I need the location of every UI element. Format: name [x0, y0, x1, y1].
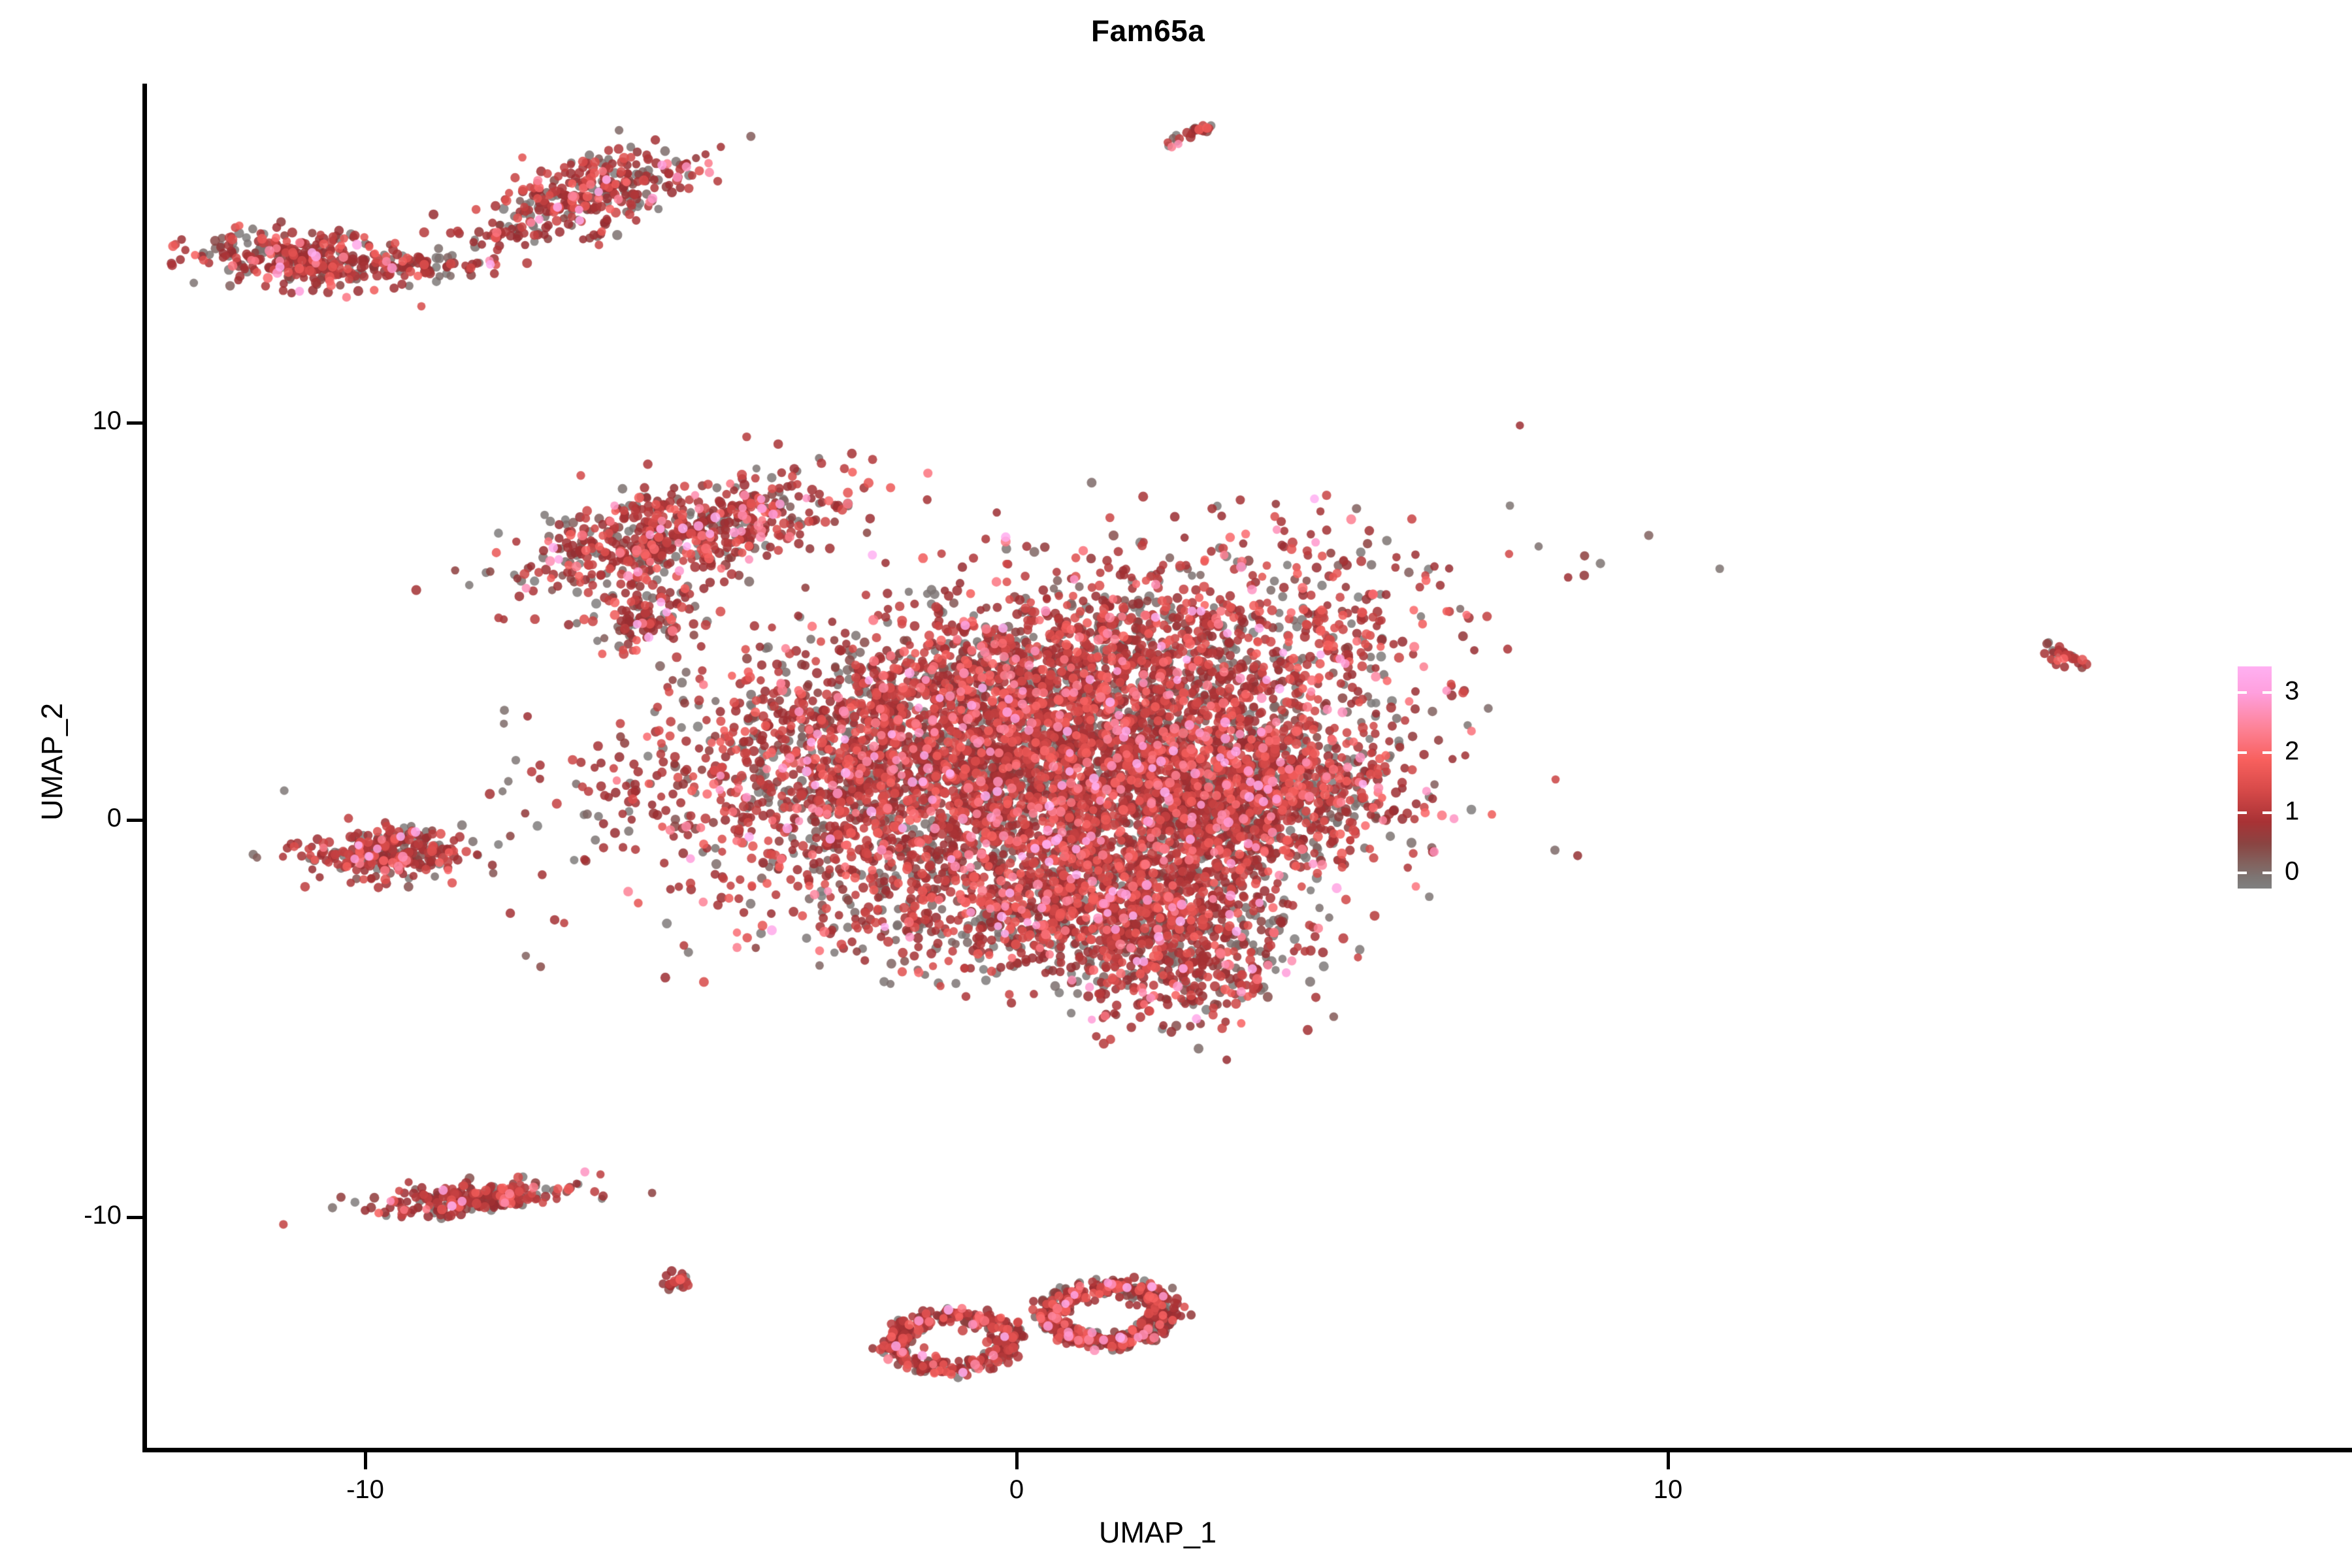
colorbar-tick-1-right — [2262, 811, 2272, 814]
colorbar-tick-3-right — [2262, 691, 2272, 694]
colorbar-tick-1-left — [2238, 811, 2247, 814]
x-tick-label-10: 10 — [1603, 1475, 1733, 1505]
y-tick-mark-neg10 — [127, 1216, 142, 1219]
y-tick-mark-0 — [127, 819, 142, 822]
colorbar-label-2: 2 — [2285, 737, 2299, 766]
colorbar-tick-2-left — [2238, 751, 2247, 754]
x-tick-mark-10 — [1667, 1452, 1670, 1469]
colorbar-tick-3-left — [2238, 691, 2247, 694]
colorbar-legend: 3 2 1 0 — [2238, 666, 2272, 889]
x-tick-label-neg10: -10 — [300, 1475, 431, 1505]
y-tick-mark-10 — [127, 421, 142, 425]
x-tick-mark-neg10 — [364, 1452, 367, 1469]
umap-scatter-canvas — [145, 84, 2170, 1449]
y-axis-line — [142, 84, 147, 1452]
page-title: Fam65a — [1091, 13, 1679, 48]
colorbar-tick-0-right — [2262, 872, 2272, 874]
colorbar-label-0: 0 — [2285, 857, 2299, 887]
x-axis-line — [142, 1448, 2352, 1452]
colorbar-label-1: 1 — [2285, 797, 2299, 826]
y-axis-title: UMAP_2 — [35, 435, 69, 1088]
x-tick-mark-0 — [1015, 1452, 1019, 1469]
colorbar-tick-2-right — [2262, 751, 2272, 754]
x-tick-label-0: 0 — [951, 1475, 1082, 1505]
feature-plot-root: Fam65a 10 0 -10 -10 0 10 UMAP_1 UMAP_2 3… — [0, 0, 2352, 1568]
colorbar-gradient — [2238, 666, 2272, 889]
y-tick-label-10: 10 — [0, 406, 122, 436]
colorbar-label-3: 3 — [2285, 677, 2299, 706]
x-axis-title: UMAP_1 — [145, 1516, 2170, 1550]
plot-panel — [145, 84, 2170, 1449]
colorbar-tick-0-left — [2238, 872, 2247, 874]
y-tick-label-neg10: -10 — [0, 1201, 122, 1230]
